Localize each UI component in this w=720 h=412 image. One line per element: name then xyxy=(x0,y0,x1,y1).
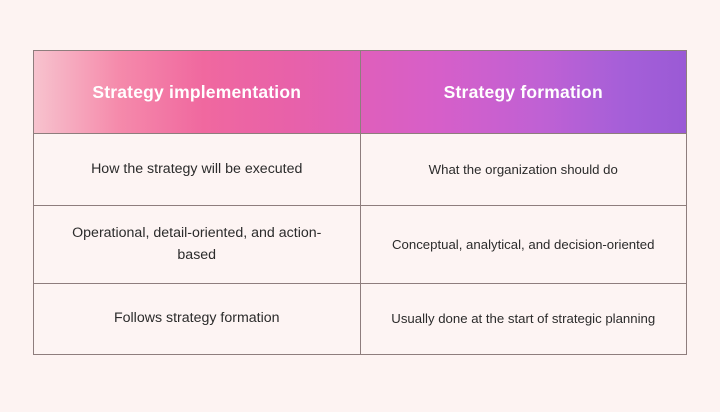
strategy-comparison-table: Strategy implementation Strategy formati… xyxy=(33,50,687,355)
cell-implementation-characteristics: Operational, detail-oriented, and action… xyxy=(34,206,361,284)
cell-formation-characteristics: Conceptual, analytical, and decision-ori… xyxy=(360,206,687,284)
column-header-strategy-formation: Strategy formation xyxy=(360,51,687,134)
table-header: Strategy implementation Strategy formati… xyxy=(34,51,687,134)
table-body: How the strategy will be executed What t… xyxy=(34,134,687,355)
cell-formation-timing: Usually done at the start of strategic p… xyxy=(360,284,687,355)
table-row: Follows strategy formation Usually done … xyxy=(34,284,687,355)
table-header-row: Strategy implementation Strategy formati… xyxy=(34,51,687,134)
table-row: How the strategy will be executed What t… xyxy=(34,134,687,206)
cell-implementation-definition: How the strategy will be executed xyxy=(34,134,361,206)
table-row: Operational, detail-oriented, and action… xyxy=(34,206,687,284)
cell-formation-definition: What the organization should do xyxy=(360,134,687,206)
column-header-strategy-implementation: Strategy implementation xyxy=(34,51,361,134)
page-canvas: Strategy implementation Strategy formati… xyxy=(0,0,720,412)
cell-implementation-timing: Follows strategy formation xyxy=(34,284,361,355)
